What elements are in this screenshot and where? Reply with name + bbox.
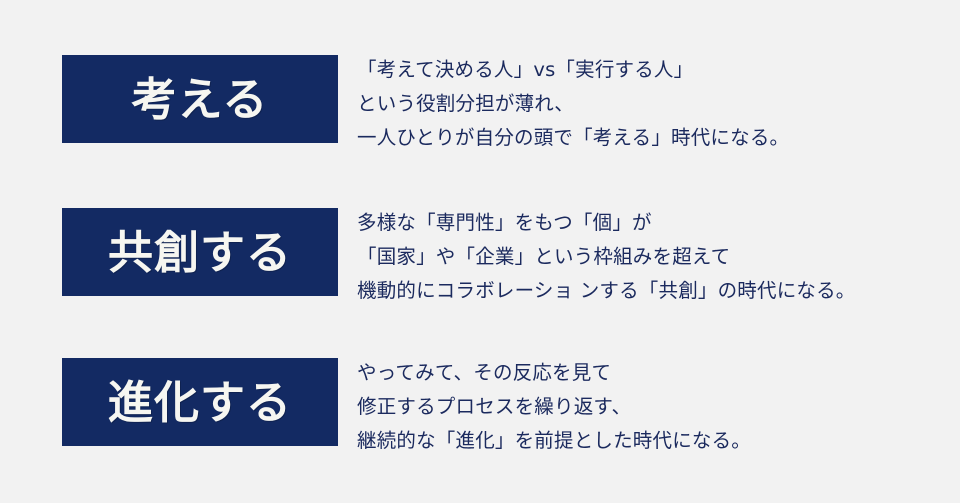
- body-line: 修正するプロセスを繰り返す、: [357, 390, 947, 424]
- section-label-box-2: 共創する: [62, 208, 338, 296]
- body-line: 一人ひとりが自分の頭で「考える」時代になる。: [357, 121, 947, 155]
- section-label-text-2: 共創する: [108, 230, 292, 275]
- section-body-3: やってみて、その反応を見て 修正するプロセスを繰り返す、 継続的な「進化」を前提…: [357, 356, 947, 458]
- body-line: 機動的にコラボレーショ ンする「共創」の時代になる。: [357, 274, 947, 308]
- section-label-text-1: 考える: [132, 77, 269, 122]
- body-line: 「考えて決める人」vs「実行する人」: [357, 53, 947, 87]
- section-label-box-1: 考える: [62, 55, 338, 143]
- section-body-1: 「考えて決める人」vs「実行する人」 という役割分担が薄れ、 一人ひとりが自分の…: [357, 53, 947, 155]
- body-line: 継続的な「進化」を前提とした時代になる。: [357, 424, 947, 458]
- body-line: 多様な「専門性」をもつ「個」が: [357, 206, 947, 240]
- section-body-2: 多様な「専門性」をもつ「個」が 「国家」や「企業」という枠組みを超えて 機動的に…: [357, 206, 947, 308]
- body-line: という役割分担が薄れ、: [357, 87, 947, 121]
- body-line: やってみて、その反応を見て: [357, 356, 947, 390]
- section-label-text-3: 進化する: [108, 380, 292, 425]
- slide-canvas: 考える 「考えて決める人」vs「実行する人」 という役割分担が薄れ、 一人ひとり…: [0, 0, 960, 503]
- section-label-box-3: 進化する: [62, 358, 338, 446]
- body-line: 「国家」や「企業」という枠組みを超えて: [357, 240, 947, 274]
